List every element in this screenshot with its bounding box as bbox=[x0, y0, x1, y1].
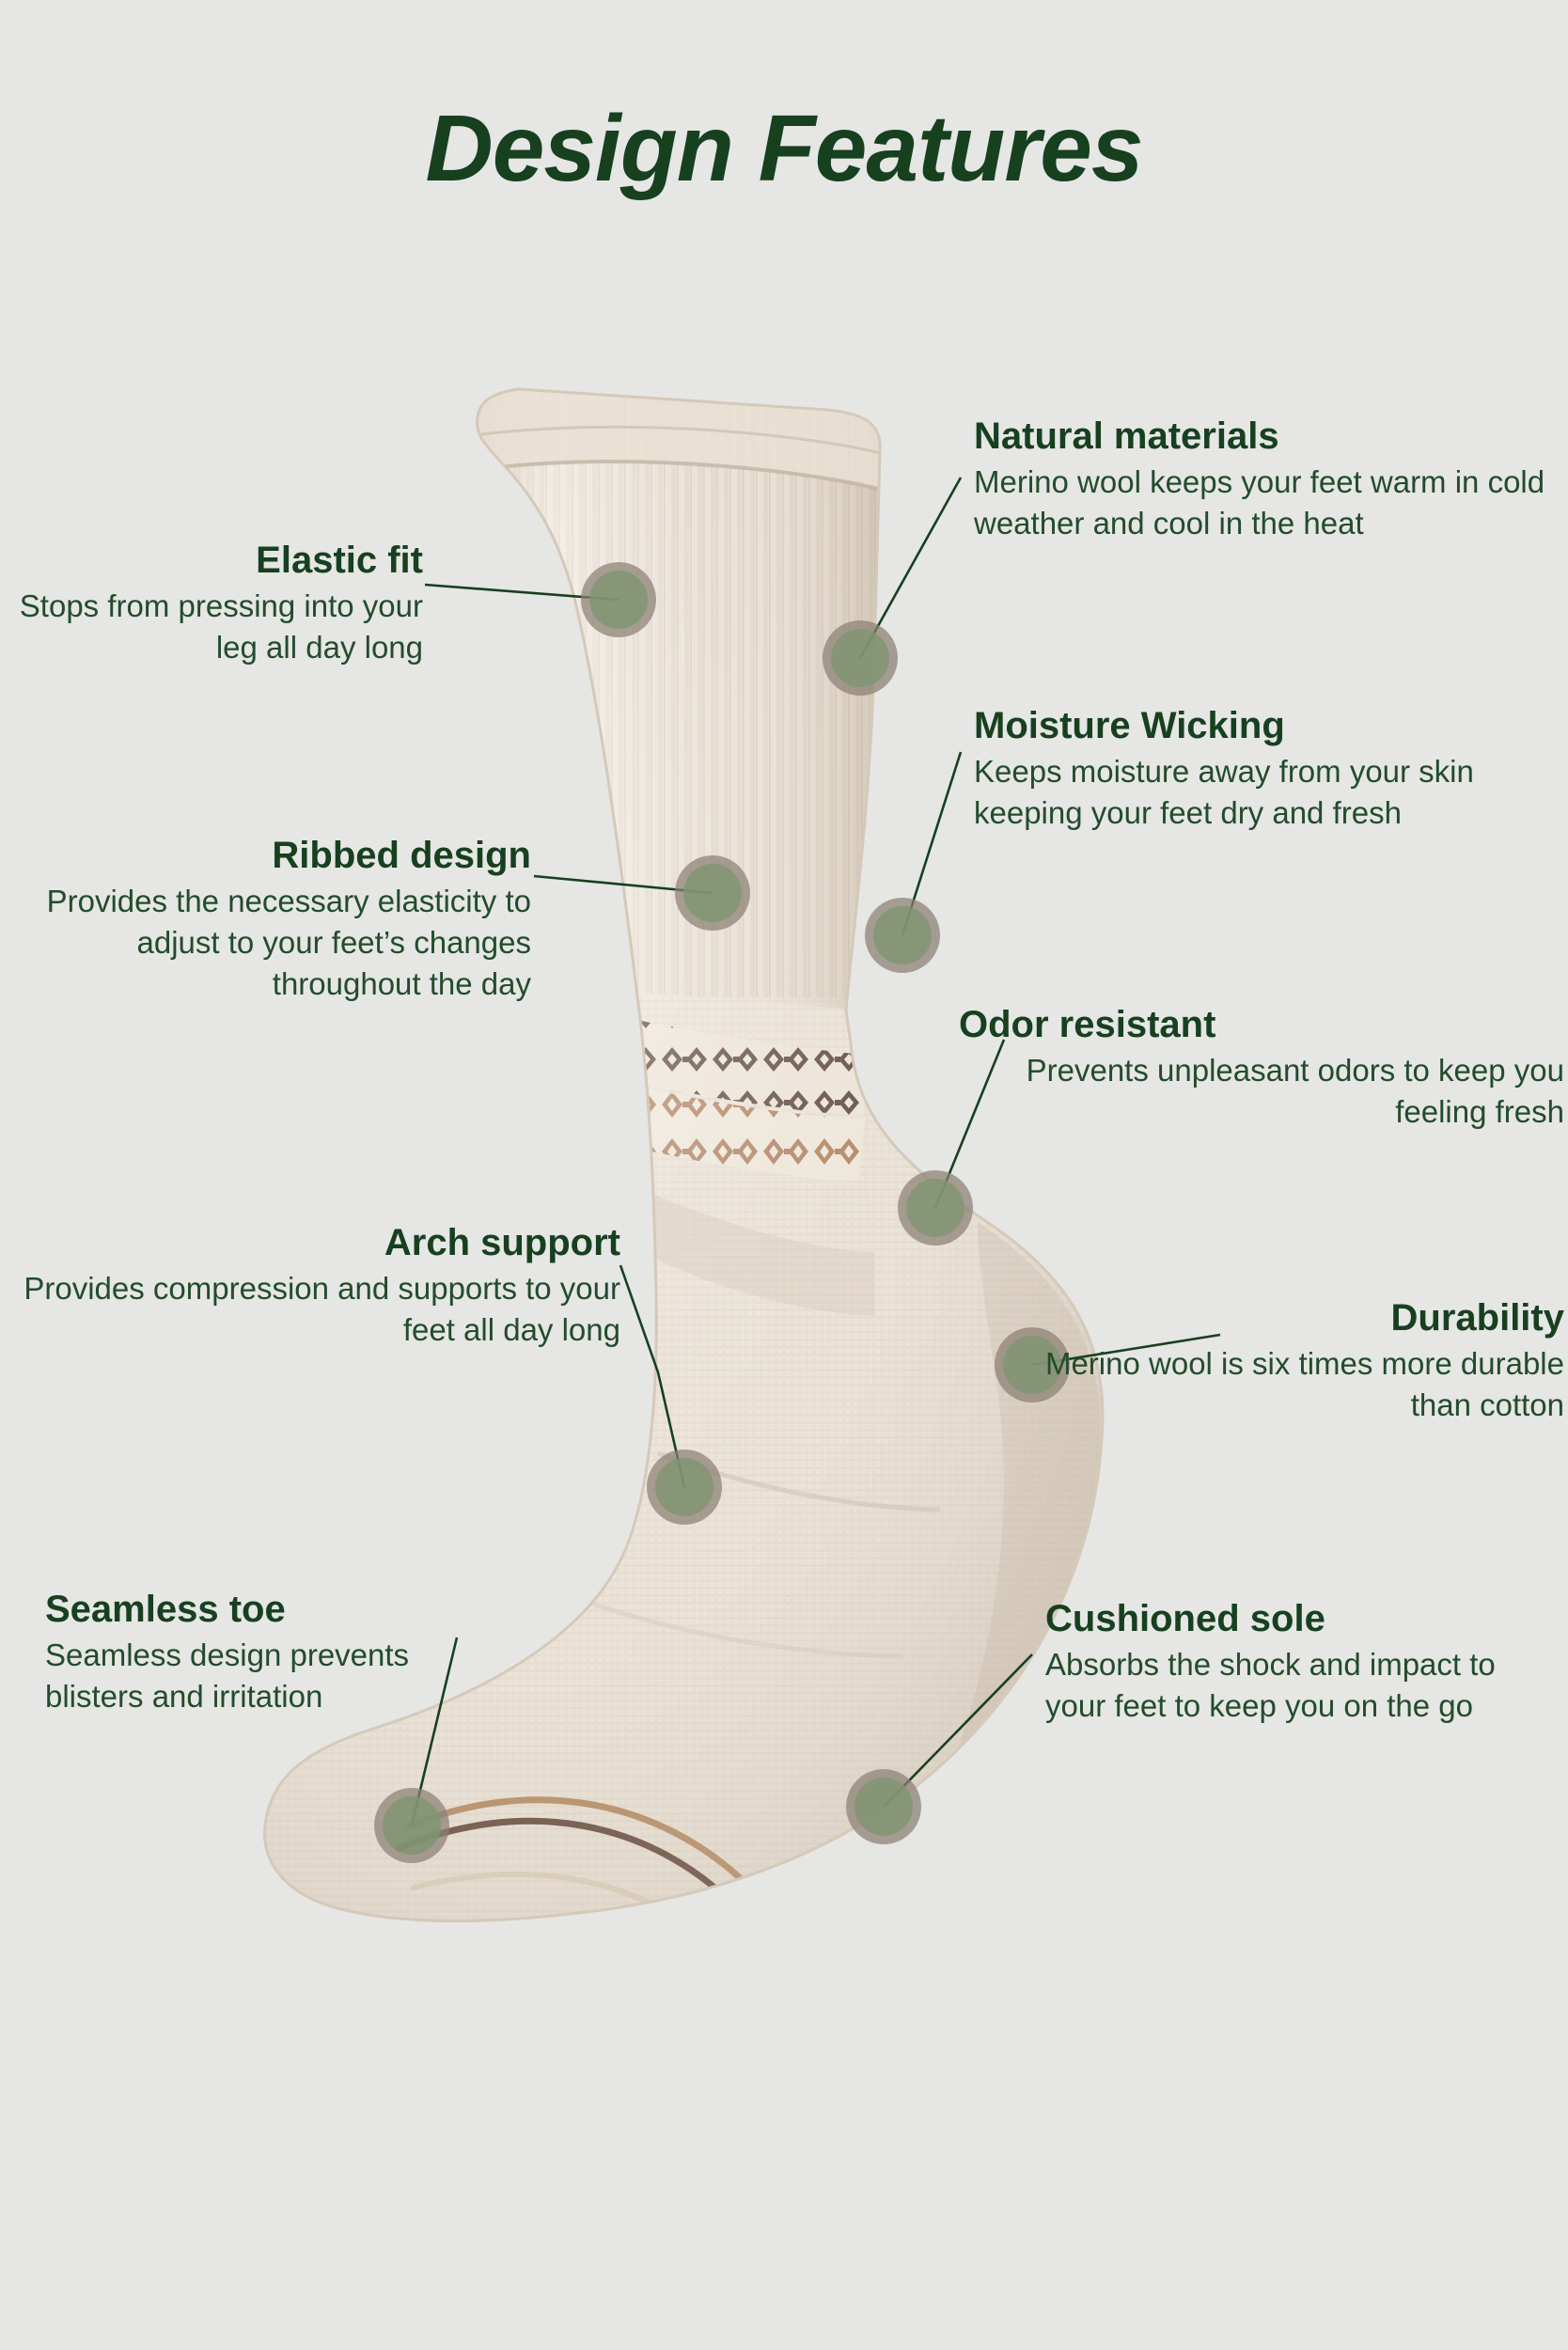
callout-moisture-wicking: Moisture Wicking Keeps moisture away fro… bbox=[974, 705, 1557, 834]
callout-odor-resistant: Odor resistant Prevents unpleasant odors… bbox=[959, 1004, 1564, 1133]
callout-durability: Durability Merino wool is six times more… bbox=[1006, 1297, 1564, 1426]
callout-seamless-toe: Seamless toe Seamless design prevents bl… bbox=[45, 1589, 440, 1717]
callout-body-elastic-fit: Stops from pressing into your leg all da… bbox=[9, 586, 423, 668]
infographic-canvas: Design Features Elastic fit Stops from p… bbox=[0, 0, 1568, 2350]
callout-heading-arch-support: Arch support bbox=[0, 1222, 620, 1264]
callout-heading-ribbed-design: Ribbed design bbox=[0, 835, 531, 877]
callout-heading-cushioned-sole: Cushioned sole bbox=[1045, 1598, 1564, 1640]
callout-natural-materials: Natural materials Merino wool keeps your… bbox=[974, 415, 1547, 544]
marker-arch-support[interactable] bbox=[647, 1449, 722, 1525]
callout-body-durability: Merino wool is six times more durable th… bbox=[1006, 1343, 1564, 1426]
callout-heading-elastic-fit: Elastic fit bbox=[9, 540, 423, 582]
page-title: Design Features bbox=[0, 100, 1568, 198]
callout-heading-natural-materials: Natural materials bbox=[974, 415, 1547, 458]
marker-moisture-wicking[interactable] bbox=[865, 898, 940, 973]
callout-body-ribbed-design: Provides the necessary elasticity to adj… bbox=[0, 881, 531, 1005]
marker-natural-materials[interactable] bbox=[823, 620, 898, 696]
marker-odor-resistant[interactable] bbox=[898, 1170, 973, 1245]
marker-ribbed-design[interactable] bbox=[675, 855, 750, 931]
sock-illustration bbox=[0, 0, 1568, 2350]
callout-elastic-fit: Elastic fit Stops from pressing into you… bbox=[9, 540, 423, 668]
marker-seamless-toe[interactable] bbox=[374, 1788, 449, 1863]
callout-heading-seamless-toe: Seamless toe bbox=[45, 1589, 440, 1631]
callout-arch-support: Arch support Provides compression and su… bbox=[0, 1222, 620, 1351]
callout-heading-moisture-wicking: Moisture Wicking bbox=[974, 705, 1557, 747]
callout-body-seamless-toe: Seamless design prevents blisters and ir… bbox=[45, 1635, 440, 1717]
callout-body-cushioned-sole: Absorbs the shock and impact to your fee… bbox=[1045, 1644, 1564, 1727]
callout-heading-odor-resistant: Odor resistant bbox=[959, 1004, 1564, 1046]
callout-body-arch-support: Provides compression and supports to you… bbox=[0, 1268, 620, 1351]
callout-body-moisture-wicking: Keeps moisture away from your skin keepi… bbox=[974, 751, 1557, 834]
callout-cushioned-sole: Cushioned sole Absorbs the shock and imp… bbox=[1045, 1598, 1564, 1727]
callout-body-odor-resistant: Prevents unpleasant odors to keep you fe… bbox=[959, 1050, 1564, 1133]
marker-elastic-fit[interactable] bbox=[581, 562, 656, 637]
callout-body-natural-materials: Merino wool keeps your feet warm in cold… bbox=[974, 462, 1547, 544]
marker-cushioned-sole[interactable] bbox=[846, 1769, 921, 1844]
callout-ribbed-design: Ribbed design Provides the necessary ela… bbox=[0, 835, 531, 1004]
callout-heading-durability: Durability bbox=[1006, 1297, 1564, 1339]
